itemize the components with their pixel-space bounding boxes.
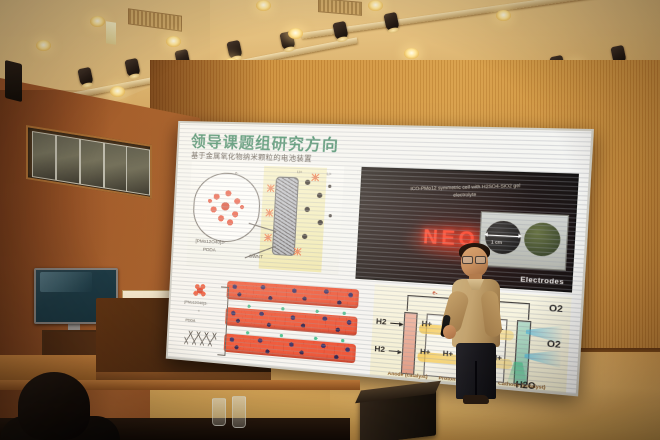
oxygen-label: O2 — [549, 302, 563, 314]
led-demo-caption: ICO-PMo12 symmetric cell with H2SO4-SiO2… — [410, 183, 521, 201]
downlight — [288, 28, 303, 39]
downlight — [166, 36, 181, 47]
swnt-icon — [272, 177, 299, 257]
presenter-shoe — [463, 395, 489, 404]
pom-particle-icon — [294, 248, 302, 256]
window-lit-pane — [106, 21, 116, 45]
proton-label: H+ — [420, 349, 431, 357]
downlight — [36, 40, 51, 51]
water-glass — [232, 396, 246, 428]
figure-pom-swnt: Li+ Li+ e- [PMo12O40]3- PDDA SWNT — [186, 162, 344, 276]
projection-screen: 领导课题组研究方向 基于金属氧化物纳米颗粒的电池装置 — [166, 121, 594, 397]
pom-particle-icon — [264, 234, 272, 242]
hydrogen-inlet-label: H2 — [376, 316, 387, 326]
hydrogen-inlet-arrow — [389, 350, 401, 352]
legend-cluster-label: [PMo12O40]3- — [184, 300, 207, 306]
window-pane — [80, 139, 104, 189]
lecture-hall-photo: 领导课题组研究方向 基于金属氧化物纳米颗粒的电池装置 — [0, 0, 660, 440]
proton-label: H+ — [421, 321, 432, 329]
water-glass — [212, 398, 226, 426]
slide-surface: 领导课题组研究方向 基于金属氧化物纳米颗粒的电池装置 — [166, 121, 594, 397]
pom-cluster-icon — [201, 182, 250, 231]
window-pane — [104, 142, 128, 192]
wall-loudspeaker — [5, 60, 22, 102]
electron-label: e- — [235, 171, 238, 175]
presenter-hand — [443, 325, 456, 339]
downlight — [496, 10, 511, 21]
li-ion-label-2: Li+ — [327, 172, 332, 176]
pom-formula-label: [PMo12O40]3- — [195, 238, 225, 245]
downlight — [256, 0, 271, 11]
electrodes-label: Electrodes — [520, 276, 564, 286]
downlight — [404, 48, 419, 59]
audience-member-head — [18, 372, 90, 440]
downlight — [368, 0, 383, 11]
electrode-disc-olive — [523, 222, 561, 257]
monitor-glare — [40, 272, 92, 292]
electron-dot — [328, 185, 331, 188]
pdda-label: PDDA — [203, 247, 216, 253]
presenter — [441, 243, 519, 403]
legend-plus: + — [198, 309, 200, 313]
electron-dot — [329, 214, 332, 217]
window-pane — [56, 135, 80, 185]
pom-particle-icon — [267, 185, 275, 192]
downlight — [90, 16, 105, 27]
presenter-leg-gap — [475, 361, 477, 399]
legend-cluster-icon — [191, 280, 210, 299]
oxygen-label-2: O2 — [547, 338, 561, 350]
pom-particle-icon — [311, 174, 319, 182]
glasses-icon — [462, 256, 486, 262]
legend-polymer-label: PDDA — [185, 318, 195, 323]
window-pane — [32, 131, 56, 181]
hydrogen-inlet-arrow — [390, 323, 402, 325]
pom-particle-icon — [266, 209, 274, 217]
electron-label-left: e- — [432, 290, 437, 297]
li-ion-label: Li+ — [297, 170, 302, 174]
hydrogen-inlet-label: H2 — [374, 344, 385, 354]
crystal-legend: [PMo12O40]3- + PDDA — [182, 278, 226, 358]
figure-layered-crystal: [PMo12O40]3- + PDDA — [179, 274, 361, 374]
window-pane — [126, 146, 150, 196]
downlight — [110, 86, 125, 97]
polymer-chain-icon — [184, 330, 216, 347]
